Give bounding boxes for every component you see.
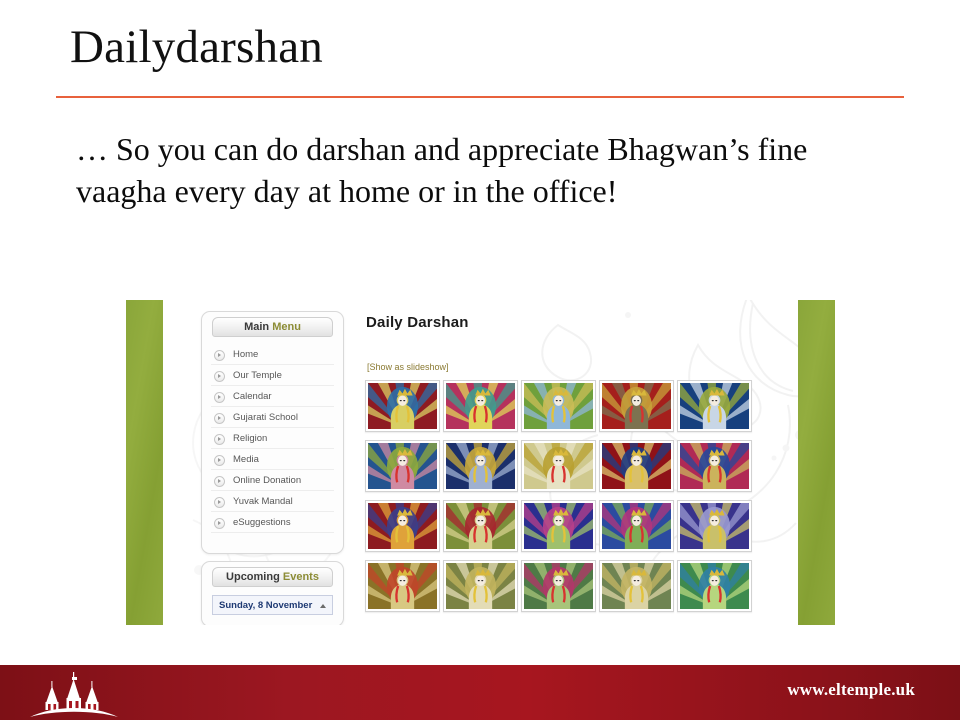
darshan-thumbnail[interactable] — [599, 560, 674, 612]
sidebar-item-religion[interactable]: Religion — [211, 428, 334, 449]
darshan-thumbnail[interactable] — [365, 500, 440, 552]
darshan-thumbnail[interactable] — [443, 560, 518, 612]
sidebar-item-online-donation[interactable]: Online Donation — [211, 470, 334, 491]
darshan-thumbnail[interactable] — [677, 440, 752, 492]
sidebar-item-yuvak-mandal[interactable]: Yuvak Mandal — [211, 491, 334, 512]
bullet-arrow-icon — [214, 392, 225, 403]
sidebar-item-esuggestions[interactable]: eSuggestions — [211, 512, 334, 533]
sidebar-item-label: Yuvak Mandal — [233, 496, 293, 507]
darshan-thumb-4 — [602, 383, 671, 429]
darshan-thumbnail[interactable] — [521, 380, 596, 432]
bullet-arrow-icon — [214, 476, 225, 487]
darshan-thumb-8 — [524, 443, 593, 489]
bullet-arrow-icon — [214, 371, 225, 382]
sidebar-item-label: Our Temple — [233, 370, 282, 381]
bullet-arrow-icon — [214, 455, 225, 466]
sidebar-item-label: Calendar — [233, 391, 272, 402]
upcoming-events-tab-label-second: Events — [283, 571, 319, 583]
sidebar-item-label: Home — [233, 349, 258, 360]
darshan-thumb-10 — [680, 443, 749, 489]
darshan-thumbnail-grid — [365, 380, 755, 618]
main-menu-tab-label-first: Main — [244, 321, 269, 333]
green-stripe-left — [126, 300, 163, 625]
darshan-thumb-7 — [446, 443, 515, 489]
darshan-thumbnail[interactable] — [599, 380, 674, 432]
sidebar-item-home[interactable]: Home — [211, 344, 334, 365]
darshan-thumb-5 — [680, 383, 749, 429]
bullet-arrow-icon — [214, 350, 225, 361]
darshan-thumb-11 — [368, 503, 437, 549]
darshan-thumb-9 — [602, 443, 671, 489]
upcoming-events-tab: Upcoming Events — [212, 567, 333, 587]
darshan-thumb-13 — [524, 503, 593, 549]
darshan-thumb-6 — [368, 443, 437, 489]
darshan-thumbnail[interactable] — [521, 560, 596, 612]
darshan-thumbnail[interactable] — [677, 380, 752, 432]
chevron-up-icon[interactable] — [320, 604, 326, 608]
darshan-thumbnail[interactable] — [365, 380, 440, 432]
darshan-thumb-19 — [602, 563, 671, 609]
darshan-thumbnail[interactable] — [677, 500, 752, 552]
website-page-body: Main Menu Home Our Temple Calendar — [163, 300, 798, 625]
sidebar-item-label: Media — [233, 454, 259, 465]
upcoming-event-date: Sunday, 8 November — [219, 600, 312, 611]
green-stripe-right — [798, 300, 835, 625]
darshan-thumb-17 — [446, 563, 515, 609]
content-heading: Daily Darshan — [366, 314, 469, 331]
temple-logo-icon — [28, 669, 120, 719]
darshan-thumbnail[interactable] — [443, 500, 518, 552]
main-menu-panel: Main Menu Home Our Temple Calendar — [201, 311, 344, 554]
darshan-thumbnail[interactable] — [599, 500, 674, 552]
main-menu-tab: Main Menu — [212, 317, 333, 337]
sidebar-item-label: Online Donation — [233, 475, 301, 486]
page-title: Dailydarshan — [70, 22, 323, 74]
sidebar-item-our-temple[interactable]: Our Temple — [211, 365, 334, 386]
bullet-arrow-icon — [214, 518, 225, 529]
sidebar-item-label: Religion — [233, 433, 267, 444]
darshan-thumb-2 — [446, 383, 515, 429]
footer-website-url[interactable]: www.eltemple.uk — [787, 680, 915, 700]
main-menu-tab-label-second: Menu — [272, 321, 301, 333]
darshan-thumbnail[interactable] — [521, 440, 596, 492]
darshan-thumbnail[interactable] — [443, 380, 518, 432]
upcoming-events-tab-label-first: Upcoming — [226, 571, 280, 583]
bullet-arrow-icon — [214, 413, 225, 424]
darshan-thumbnail[interactable] — [443, 440, 518, 492]
bullet-arrow-icon — [214, 497, 225, 508]
main-menu-list: Home Our Temple Calendar Gujarati School… — [202, 344, 343, 533]
darshan-thumb-15 — [680, 503, 749, 549]
sidebar-item-label: eSuggestions — [233, 517, 291, 528]
darshan-thumbnail[interactable] — [365, 440, 440, 492]
darshan-thumb-18 — [524, 563, 593, 609]
darshan-thumb-1 — [368, 383, 437, 429]
darshan-thumb-16 — [368, 563, 437, 609]
title-divider-rule — [56, 96, 904, 98]
show-as-slideshow-link[interactable]: [Show as slideshow] — [367, 362, 449, 372]
upcoming-events-panel: Upcoming Events Sunday, 8 November — [201, 561, 344, 625]
website-screenshot: Main Menu Home Our Temple Calendar — [126, 300, 836, 625]
darshan-thumb-14 — [602, 503, 671, 549]
darshan-thumbnail[interactable] — [677, 560, 752, 612]
upcoming-event-item[interactable]: Sunday, 8 November — [212, 595, 333, 615]
darshan-thumbnail[interactable] — [521, 500, 596, 552]
sidebar-item-media[interactable]: Media — [211, 449, 334, 470]
darshan-thumbnail[interactable] — [599, 440, 674, 492]
darshan-thumb-20 — [680, 563, 749, 609]
footer-band: www.eltemple.uk — [0, 665, 960, 720]
slide-body-text: … So you can do darshan and appreciate B… — [76, 128, 896, 212]
darshan-thumb-12 — [446, 503, 515, 549]
bullet-arrow-icon — [214, 434, 225, 445]
darshan-thumb-3 — [524, 383, 593, 429]
sidebar-item-label: Gujarati School — [233, 412, 298, 423]
sidebar-item-gujarati-school[interactable]: Gujarati School — [211, 407, 334, 428]
darshan-thumbnail[interactable] — [365, 560, 440, 612]
sidebar-item-calendar[interactable]: Calendar — [211, 386, 334, 407]
